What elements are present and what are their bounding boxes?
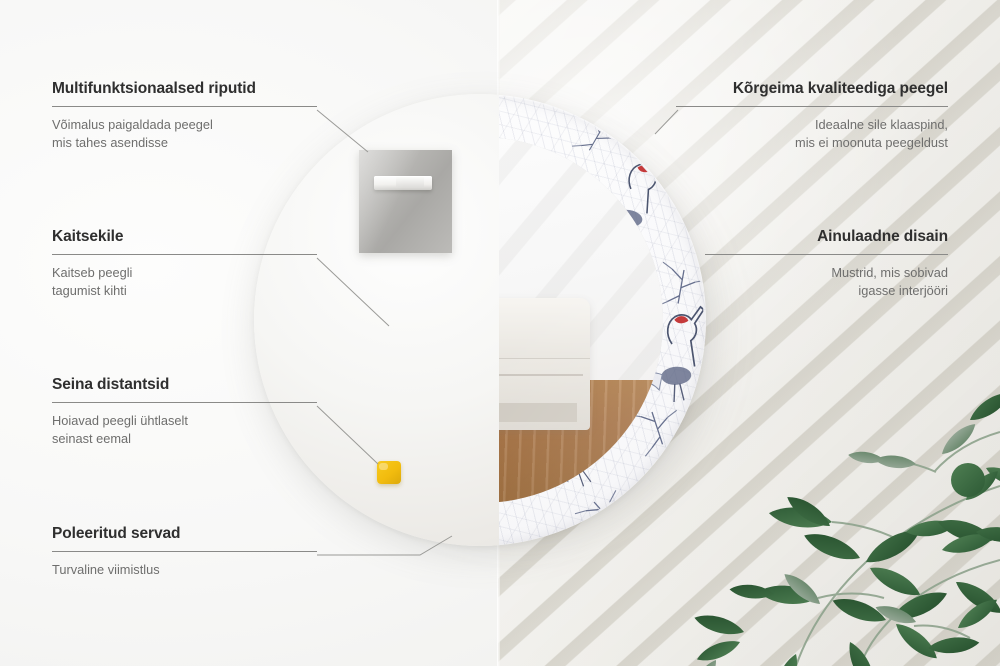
feature-wall-spacers-rule — [52, 402, 317, 403]
feature-protective-film: Kaitsekile Kaitseb peeglitagumist kihti — [52, 228, 317, 300]
feature-polished-edges: Poleeritud servad Turvaline viimistlus — [52, 525, 317, 579]
green-leaf-branches — [670, 336, 1000, 666]
feature-quality-mirror-desc: Ideaalne sile klaaspind,mis ei moonuta p… — [676, 116, 948, 152]
feature-unique-design-title: Ainulaadne disain — [705, 228, 948, 247]
feature-quality-mirror-rule — [676, 106, 948, 107]
foliage-svg — [670, 336, 1000, 666]
feature-protective-film-title: Kaitsekile — [52, 228, 317, 247]
feature-quality-mirror-title: Kõrgeima kvaliteediga peegel — [676, 80, 948, 99]
yellow-wall-spacer — [377, 461, 401, 484]
feature-polished-edges-title: Poleeritud servad — [52, 525, 317, 544]
feature-polished-edges-rule — [52, 551, 317, 552]
feature-hangers-rule — [52, 106, 317, 107]
feature-protective-film-desc: Kaitseb peeglitagumist kihti — [52, 264, 317, 300]
feature-polished-edges-desc: Turvaline viimistlus — [52, 561, 317, 579]
infographic-canvas: Multifunktsionaalsed riputid Võimalus pa… — [0, 0, 1000, 666]
feature-hangers: Multifunktsionaalsed riputid Võimalus pa… — [52, 80, 317, 152]
feature-hangers-title: Multifunktsionaalsed riputid — [52, 80, 317, 99]
mirror-assembly — [254, 94, 706, 546]
feature-hangers-desc: Võimalus paigaldada peegelmis tahes asen… — [52, 116, 317, 152]
feature-wall-spacers-desc: Hoiavad peegli ühtlaseltseinast eemal — [52, 412, 317, 448]
feature-wall-spacers: Seina distantsid Hoiavad peegli ühtlasel… — [52, 376, 317, 448]
feature-unique-design-desc: Mustrid, mis sobivadigasse interjööri — [705, 264, 948, 300]
feature-unique-design-rule — [705, 254, 948, 255]
hanger-plate — [359, 150, 452, 253]
feature-quality-mirror: Kõrgeima kvaliteediga peegel Ideaalne si… — [676, 80, 948, 152]
feature-wall-spacers-title: Seina distantsid — [52, 376, 317, 395]
feature-protective-film-rule — [52, 254, 317, 255]
feature-unique-design: Ainulaadne disain Mustrid, mis sobivadig… — [705, 228, 948, 300]
spacer-highlight — [379, 463, 388, 470]
hanger-gloss — [359, 150, 452, 253]
